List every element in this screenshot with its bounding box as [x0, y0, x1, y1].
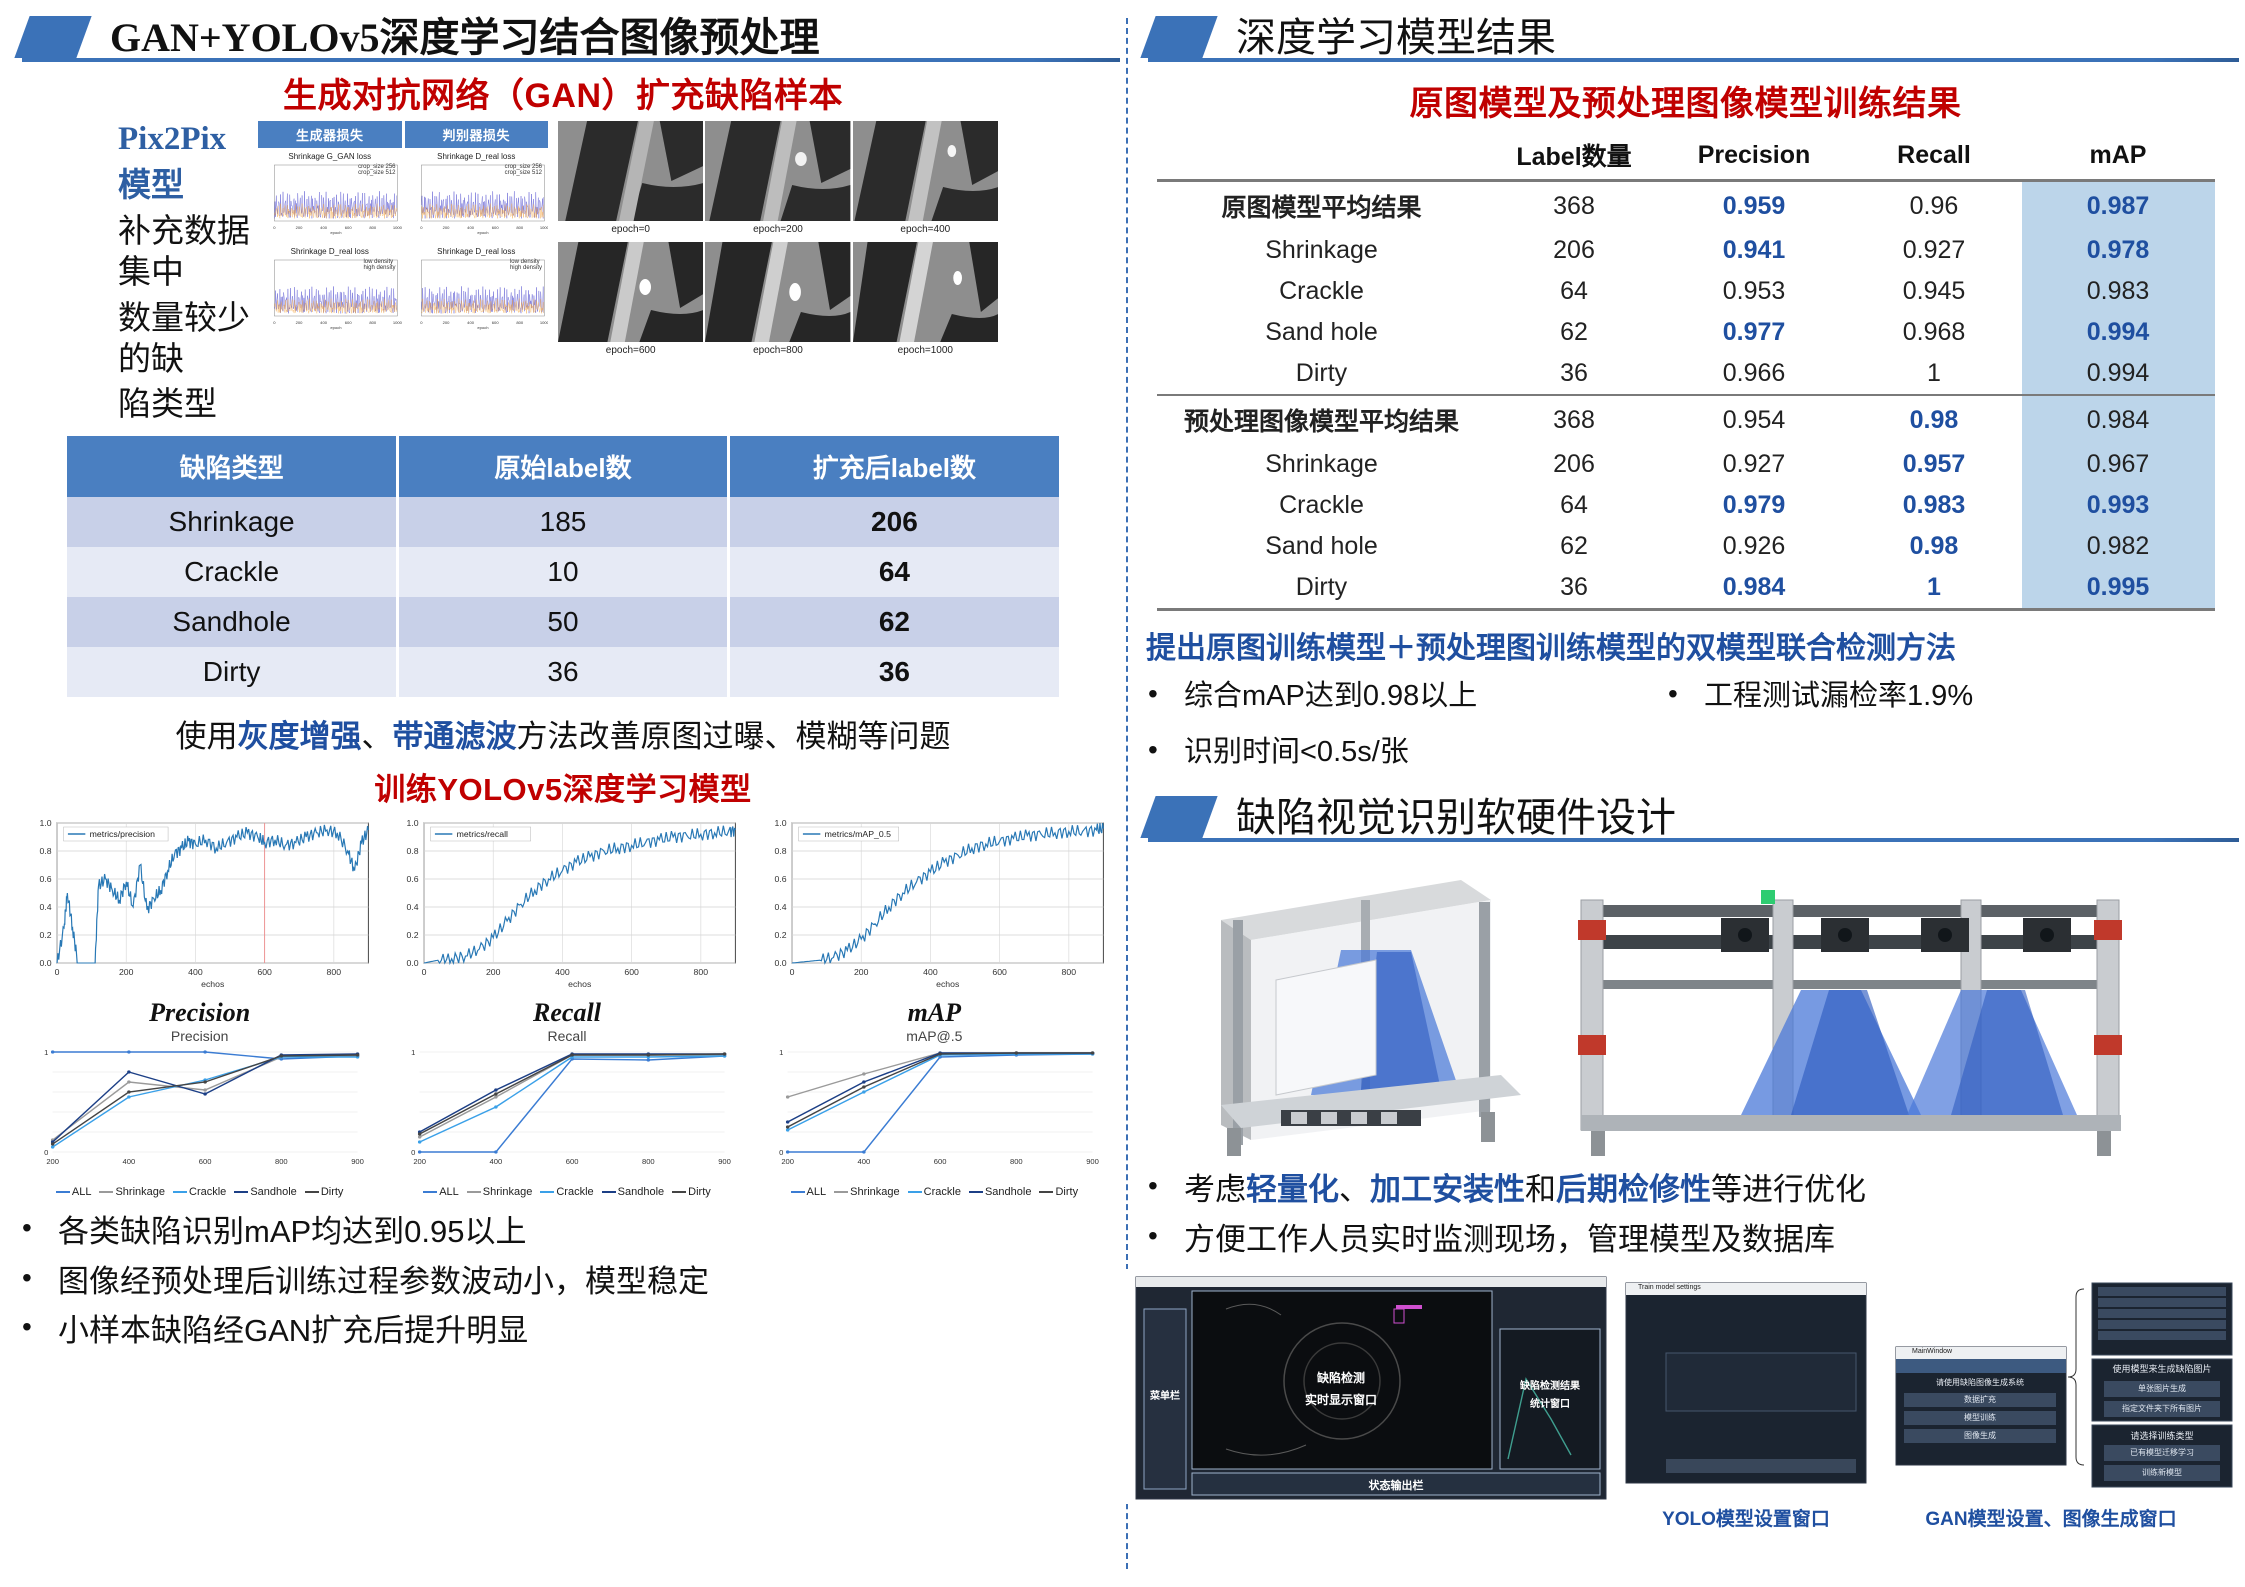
legend-item-all-2: ALL [791, 1186, 827, 1198]
detect-display-label-2: 实时显示窗口 [1246, 1391, 1436, 1408]
metric-box-0: 0.00.20.40.60.81.00200400600800metrics/p… [20, 815, 379, 1198]
results-header-row: Label数量 Precision Recall mAP [1157, 131, 2215, 181]
defect-table-header-row: 缺陷类型 原始label数 扩充后label数 [67, 436, 1059, 497]
results-row-label-7: Crackle [1157, 485, 1487, 526]
gan-button-2[interactable]: 图像生成 [1904, 1430, 2056, 1441]
legend-item-all-0: ALL [56, 1186, 92, 1198]
pix2pix-text-block: Pix2Pix模型 补充数据集中 数量较少的缺 陷类型 [0, 121, 250, 424]
svg-text:0.0: 0.0 [774, 959, 786, 969]
epoch-cell-1: epoch=200 [705, 121, 850, 240]
svg-text:600: 600 [491, 225, 499, 230]
svg-text:0: 0 [44, 1149, 48, 1158]
legend-item-dirty-0: Dirty [305, 1186, 344, 1198]
svg-text:200: 200 [296, 225, 304, 230]
svg-text:600: 600 [345, 225, 353, 230]
hw-b0-p4: 等进行优化 [1711, 1172, 1866, 1207]
results-count-2: 64 [1487, 271, 1662, 312]
results-precision-1: 0.941 [1662, 230, 1847, 271]
stats-window-label-2: 统计窗口 [1500, 1395, 1600, 1410]
recall-curve-chart: 0.00.20.40.60.81.00200400600800metrics/r… [387, 815, 746, 1000]
svg-text:0.4: 0.4 [407, 903, 419, 913]
svg-text:200: 200 [781, 1158, 794, 1167]
svg-text:800: 800 [327, 968, 342, 978]
svg-text:0: 0 [273, 320, 276, 325]
defect-orig-0: 185 [398, 497, 729, 547]
table-row: Crackle640.9530.9450.983 [1157, 271, 2215, 312]
caption-yolo: YOLO模型设置窗口 [1626, 1504, 1866, 1531]
table-row: Dirty360.98410.995 [1157, 567, 2215, 610]
results-precision-7: 0.979 [1662, 485, 1847, 526]
results-row-label-5: 预处理图像模型平均结果 [1157, 395, 1487, 444]
results-count-4: 36 [1487, 353, 1662, 395]
hw-b0-p2: 、 [1339, 1172, 1370, 1207]
yolo-window-title: Train model settings [1638, 1284, 1701, 1291]
svg-text:800: 800 [516, 320, 524, 325]
svg-text:800: 800 [369, 225, 377, 230]
legend-item-shrinkage-1: Shrinkage [467, 1186, 533, 1198]
results-precision-0: 0.959 [1662, 181, 1847, 231]
defect-type-1: Crackle [67, 547, 398, 597]
table-row: Sand hole620.9260.980.982 [1157, 526, 2215, 567]
pix2pix-line3: 陷类型 [118, 383, 250, 424]
svg-text:0: 0 [420, 225, 423, 230]
results-recall-5: 0.98 [1847, 395, 2022, 444]
results-precision-9: 0.984 [1662, 567, 1847, 610]
list-item: 综合mAP达到0.98以上 [1126, 678, 1646, 716]
results-recall-8: 0.98 [1847, 526, 2022, 567]
epoch-grid-top: epoch=0 epoch=200 [558, 121, 998, 240]
software-windows-graphic [1126, 1269, 2245, 1504]
defect-orig-1: 10 [398, 547, 729, 597]
results-recall-9: 1 [1847, 567, 2022, 610]
list-item: 方便工作人员实时监测现场，管理模型及数据库 [1126, 1220, 2245, 1260]
gan-chart-grid: Shrinkage G_GAN loss 02004006008001000ep… [258, 152, 548, 339]
right-section-title: 深度学习模型结果 [1236, 5, 1556, 63]
svg-text:200: 200 [414, 1158, 427, 1167]
results-map-1: 0.978 [2022, 230, 2215, 271]
svg-text:400: 400 [467, 320, 475, 325]
svg-text:0: 0 [55, 968, 60, 978]
list-item: 小样本缺陷经GAN扩充后提升明显 [0, 1311, 1126, 1351]
svg-text:0.2: 0.2 [774, 931, 786, 941]
panel-2-button-1[interactable]: 训练新模型 [2104, 1467, 2220, 1478]
svg-text:400: 400 [923, 968, 938, 978]
method-bullets-left: 综合mAP达到0.98以上 [1126, 669, 1646, 725]
hw-b0-hl3: 后期检修性 [1556, 1172, 1711, 1207]
results-map-5: 0.984 [2022, 395, 2215, 444]
header-parallelogram-icon [14, 16, 91, 58]
defect-th-aug: 扩充后label数 [728, 436, 1059, 497]
epoch-label-2: epoch=400 [853, 221, 998, 240]
preprocess-note-p2: 、 [362, 719, 393, 754]
model-results-table: Label数量 Precision Recall mAP 原图模型平均结果368… [1157, 131, 2215, 611]
results-row-label-3: Sand hole [1157, 312, 1487, 353]
metric-legend-0: ALL Shrinkage Crackle Sandhole Dirty [20, 1186, 379, 1198]
svg-text:800: 800 [1061, 968, 1076, 978]
svg-text:1: 1 [411, 1049, 415, 1058]
legend-item-sandhole-1: Sandhole [602, 1186, 665, 1198]
svg-text:0.4: 0.4 [774, 903, 786, 913]
results-count-3: 62 [1487, 312, 1662, 353]
epoch-label-0: epoch=0 [558, 221, 703, 240]
svg-text:900: 900 [1086, 1158, 1099, 1167]
table-row: Sand hole620.9770.9680.994 [1157, 312, 2215, 353]
svg-text:600: 600 [625, 968, 640, 978]
results-recall-1: 0.927 [1847, 230, 2022, 271]
stats-window-label: 缺陷检测结果 [1500, 1377, 1600, 1392]
svg-text:1.0: 1.0 [407, 819, 419, 829]
epoch-cell-0: epoch=0 [558, 121, 703, 240]
defect-type-3: Dirty [67, 647, 398, 697]
defect-type-0: Shrinkage [67, 497, 398, 547]
svg-text:400: 400 [490, 1158, 503, 1167]
software-captions: YOLO模型设置窗口 GAN模型设置、图像生成窗口 [1126, 1504, 2245, 1530]
epoch-grid-bottom: epoch=600 epoch=800 [558, 242, 998, 361]
metric-box-2: 0.00.20.40.60.81.00200400600800metrics/m… [755, 815, 1114, 1198]
gan-red-title: 生成对抗网络（GAN）扩充缺陷样本 [0, 68, 1126, 117]
map-curve-chart: 0.00.20.40.60.81.00200400600800metrics/m… [755, 815, 1114, 1000]
gan-chart-3: Shrinkage D_real loss 02004006008001000e… [405, 247, 549, 339]
metric-sub-0: Precision [20, 1028, 379, 1044]
epoch-label-3: epoch=600 [558, 342, 703, 361]
results-map-2: 0.983 [2022, 271, 2215, 312]
gan-chart-1-title: Shrinkage D_real loss [405, 152, 549, 161]
panel-1-button-0[interactable]: 单张图片生成 [2104, 1383, 2220, 1394]
svg-text:900: 900 [719, 1158, 732, 1167]
header-parallelogram-icon [1140, 16, 1217, 58]
hardware-section-header: 缺陷视觉识别软硬件设计 [1126, 780, 2245, 852]
gan-chart-0: Shrinkage G_GAN loss 02004006008001000ep… [258, 152, 402, 244]
svg-text:1000: 1000 [539, 225, 548, 230]
svg-text:800: 800 [694, 968, 709, 978]
train-title: 训练YOLOv5深度学习模型 [0, 764, 1126, 809]
svg-text:0.2: 0.2 [407, 931, 419, 941]
results-recall-7: 0.983 [1847, 485, 2022, 526]
svg-text:400: 400 [320, 320, 328, 325]
svg-text:metrics/precision: metrics/precision [90, 830, 156, 840]
results-row-label-1: Shrinkage [1157, 230, 1487, 271]
svg-text:800: 800 [516, 225, 524, 230]
defect-aug-3: 36 [728, 647, 1059, 697]
svg-text:600: 600 [199, 1158, 212, 1167]
legend-item-shrinkage-0: Shrinkage [99, 1186, 165, 1198]
svg-text:0.8: 0.8 [774, 847, 786, 857]
svg-text:600: 600 [257, 968, 272, 978]
svg-text:200: 200 [486, 968, 501, 978]
right-column: 深度学习模型结果 原图模型及预处理图像模型训练结果 Label数量 Precis… [1126, 0, 2245, 1587]
menu-bar-label: 菜单栏 [1148, 1387, 1182, 1402]
defect-aug-0: 206 [728, 497, 1059, 547]
results-count-7: 64 [1487, 485, 1662, 526]
legend-item-sandhole-0: Sandhole [234, 1186, 297, 1198]
svg-text:400: 400 [857, 1158, 870, 1167]
metric-legend-2: ALL Shrinkage Crackle Sandhole Dirty [755, 1186, 1114, 1198]
svg-text:400: 400 [555, 968, 570, 978]
svg-text:600: 600 [566, 1158, 579, 1167]
left-section-header: GAN+YOLOv5深度学习结合图像预处理 [0, 0, 1126, 72]
table-row: Shrinkage2060.9270.9570.967 [1157, 444, 2215, 485]
svg-text:0: 0 [779, 1149, 783, 1158]
gan-chart-0-title: Shrinkage G_GAN loss [258, 152, 402, 161]
left-conclusions-list: 各类缺陷识别mAP均达到0.95以上 图像经预处理后训练过程参数波动小，模型稳定… [0, 1212, 1126, 1351]
table-row: Crackle640.9790.9830.993 [1157, 485, 2215, 526]
gan-chart-2-title: Shrinkage D_real loss [258, 247, 402, 256]
gan-chart-headers: 生成器损失 判别器损失 [258, 121, 548, 148]
method-title: 提出原图训练模型＋预处理图训练模型的双模型联合检测方法 [1126, 623, 2245, 667]
results-precision-5: 0.954 [1662, 395, 1847, 444]
hardware-section-title: 缺陷视觉识别软硬件设计 [1236, 785, 1676, 843]
metric-title-1: Recall [387, 998, 746, 1028]
svg-text:0: 0 [422, 968, 427, 978]
epoch-image-5 [853, 242, 998, 342]
svg-text:200: 200 [46, 1158, 59, 1167]
list-item: 识别时间<0.5s/张 [1126, 734, 2245, 772]
svg-text:0: 0 [789, 968, 794, 978]
defect-orig-3: 36 [398, 647, 729, 697]
preprocess-note-hl2: 带通滤波 [393, 719, 517, 754]
preprocess-note-p3: 方法改善原图过曝、模糊等问题 [517, 719, 951, 754]
results-count-8: 62 [1487, 526, 1662, 567]
legend-item-crackle-2: Crackle [908, 1186, 961, 1198]
left-column: GAN+YOLOv5深度学习结合图像预处理 生成对抗网络（GAN）扩充缺陷样本 … [0, 0, 1126, 1587]
epoch-image-3 [558, 242, 703, 342]
detect-display-label: 缺陷检测 [1246, 1369, 1436, 1386]
list-item: 图像经预处理后训练过程参数波动小，模型稳定 [0, 1262, 1126, 1302]
epoch-image-1 [705, 121, 850, 221]
svg-text:200: 200 [296, 320, 304, 325]
results-recall-2: 0.945 [1847, 271, 2022, 312]
legend-item-dirty-2: Dirty [1039, 1186, 1078, 1198]
results-row-label-2: Crackle [1157, 271, 1487, 312]
gan-chart-3-title: Shrinkage D_real loss [405, 247, 549, 256]
epoch-cell-2: epoch=400 [853, 121, 998, 240]
header-rule [1148, 58, 2239, 62]
defect-aug-2: 62 [728, 597, 1059, 647]
map-class-chart: 01200400600800900 [755, 1044, 1114, 1184]
legend-item-shrinkage-2: Shrinkage [834, 1186, 900, 1198]
svg-text:1000: 1000 [539, 320, 548, 325]
svg-text:800: 800 [642, 1158, 655, 1167]
results-precision-2: 0.953 [1662, 271, 1847, 312]
svg-text:1000: 1000 [393, 225, 402, 230]
results-map-0: 0.987 [2022, 181, 2215, 231]
legend-item-dirty-1: Dirty [672, 1186, 711, 1198]
results-count-0: 368 [1487, 181, 1662, 231]
svg-text:200: 200 [442, 320, 450, 325]
table-row: 原图模型平均结果3680.9590.960.987 [1157, 181, 2215, 231]
list-item: 考虑轻量化、加工安装性和后期检修性等进行优化 [1126, 1170, 2245, 1210]
results-th-recall: Recall [1847, 131, 2022, 181]
results-precision-8: 0.926 [1662, 526, 1847, 567]
metric-sub-1: Recall [387, 1028, 746, 1044]
results-count-5: 368 [1487, 395, 1662, 444]
gan-header-discriminator: 判别器损失 [405, 121, 549, 148]
svg-text:400: 400 [467, 225, 475, 230]
svg-text:0.8: 0.8 [39, 847, 51, 857]
poster-root: GAN+YOLOv5深度学习结合图像预处理 生成对抗网络（GAN）扩充缺陷样本 … [0, 0, 2245, 1587]
results-row-label-8: Sand hole [1157, 526, 1487, 567]
metric-title-0: Precision [20, 998, 379, 1028]
results-precision-3: 0.977 [1662, 312, 1847, 353]
epoch-label-1: epoch=200 [705, 221, 850, 240]
gan-header-generator: 生成器损失 [258, 121, 402, 148]
defect-th-type: 缺陷类型 [67, 436, 398, 497]
panel-1-button-1[interactable]: 指定文件夹下所有图片 [2104, 1403, 2220, 1414]
defect-aug-1: 64 [728, 547, 1059, 597]
pix2pix-title: Pix2Pix模型 [118, 121, 250, 206]
svg-text:1: 1 [779, 1049, 783, 1058]
svg-text:0.8: 0.8 [407, 847, 419, 857]
svg-text:echos: echos [568, 980, 591, 990]
results-red-title: 原图模型及预处理图像模型训练结果 [1126, 76, 2245, 125]
svg-text:0.2: 0.2 [39, 931, 51, 941]
svg-text:800: 800 [1010, 1158, 1023, 1167]
svg-text:metrics/recall: metrics/recall [457, 830, 508, 840]
panel-2-button-0[interactable]: 已有模型迁移学习 [2104, 1447, 2220, 1458]
preprocess-note: 使用灰度增强、带通滤波方法改善原图过曝、模糊等问题 [0, 711, 1126, 756]
results-th-label-count: Label数量 [1487, 131, 1662, 181]
metric-box-1: 0.00.20.40.60.81.00200400600800metrics/r… [387, 815, 746, 1198]
hw-b0-p3: 和 [1525, 1172, 1556, 1207]
gan-chart-2-legend: low density high density [363, 259, 395, 271]
header-rule [22, 58, 1120, 62]
hardware-bullets: 考虑轻量化、加工安装性和后期检修性等进行优化 方便工作人员实时监测现场，管理模型… [1126, 1170, 2245, 1260]
epoch-cell-5: epoch=1000 [853, 242, 998, 361]
svg-text:echos: echos [936, 980, 959, 990]
epoch-cell-4: epoch=800 [705, 242, 850, 361]
table-row: Dirty 36 36 [67, 647, 1059, 697]
svg-text:0.6: 0.6 [407, 875, 419, 885]
epoch-label-5: epoch=1000 [853, 342, 998, 361]
gan-chart-1: Shrinkage D_real loss 02004006008001000e… [405, 152, 549, 244]
inspection-rig-photo [1161, 860, 2211, 1160]
table-row: Shrinkage 185 206 [67, 497, 1059, 547]
metric-sub-2: mAP@.5 [755, 1028, 1114, 1044]
legend-item-crackle-1: Crackle [540, 1186, 593, 1198]
epoch-cell-3: epoch=600 [558, 242, 703, 361]
list-item: 各类缺陷识别mAP均达到0.95以上 [0, 1212, 1126, 1252]
svg-text:800: 800 [369, 320, 377, 325]
precision-curve-chart: 0.00.20.40.60.81.00200400600800metrics/p… [20, 815, 379, 1000]
header-rule [1148, 838, 2239, 842]
gan-chart-1-legend: crop_size 256 crop_size 512 [505, 164, 542, 176]
results-map-8: 0.982 [2022, 526, 2215, 567]
svg-text:0.6: 0.6 [774, 875, 786, 885]
panel-title-1: 使用模型来生成缺陷图片 [2092, 1362, 2232, 1375]
results-map-3: 0.994 [2022, 312, 2215, 353]
defect-orig-2: 50 [398, 597, 729, 647]
gan-button-1[interactable]: 模型训练 [1904, 1412, 2056, 1423]
gan-chart-3-legend-1: high density [510, 265, 542, 271]
method-bullets-row2: 识别时间<0.5s/张 [1126, 734, 2245, 772]
pix2pix-line1: 补充数据集中 [118, 210, 250, 293]
pix2pix-line2: 数量较少的缺 [118, 297, 250, 380]
results-precision-6: 0.927 [1662, 444, 1847, 485]
svg-text:400: 400 [320, 225, 328, 230]
svg-text:epoch: epoch [477, 325, 488, 330]
gan-button-0[interactable]: 数据扩充 [1904, 1394, 2056, 1405]
svg-text:400: 400 [188, 968, 203, 978]
svg-text:echos: echos [201, 980, 224, 990]
results-recall-3: 0.968 [1847, 312, 2022, 353]
svg-text:0: 0 [411, 1149, 415, 1158]
preprocess-note-hl1: 灰度增强 [238, 719, 362, 754]
svg-text:400: 400 [123, 1158, 136, 1167]
results-count-1: 206 [1487, 230, 1662, 271]
epoch-image-4 [705, 242, 850, 342]
svg-text:0.0: 0.0 [39, 959, 51, 969]
svg-text:0.0: 0.0 [407, 959, 419, 969]
svg-text:600: 600 [992, 968, 1007, 978]
svg-text:epoch: epoch [477, 230, 488, 235]
svg-text:metrics/mAP_0.5: metrics/mAP_0.5 [824, 830, 891, 840]
results-row-label-9: Dirty [1157, 567, 1487, 610]
results-count-6: 206 [1487, 444, 1662, 485]
svg-text:0.4: 0.4 [39, 903, 51, 913]
header-parallelogram-icon [1140, 796, 1217, 838]
table-row: Shrinkage2060.9410.9270.978 [1157, 230, 2215, 271]
results-row-label-4: Dirty [1157, 353, 1487, 395]
defect-count-table: 缺陷类型 原始label数 扩充后label数 Shrinkage 185 20… [67, 436, 1059, 697]
gan-loss-charts: 生成器损失 判别器损失 Shrinkage G_GAN loss 0200400… [258, 121, 548, 339]
panel-title-2: 请选择训练类型 [2092, 1429, 2232, 1442]
defect-type-2: Sandhole [67, 597, 398, 647]
table-row: Crackle 10 64 [67, 547, 1059, 597]
results-recall-0: 0.96 [1847, 181, 2022, 231]
gan-chart-3-legend: low density high density [510, 259, 542, 271]
svg-text:0: 0 [273, 225, 276, 230]
svg-text:0.6: 0.6 [39, 875, 51, 885]
results-row-label-6: Shrinkage [1157, 444, 1487, 485]
gan-chart-1-legend-1: crop_size 512 [505, 170, 542, 176]
results-row-label-0: 原图模型平均结果 [1157, 181, 1487, 231]
recall-class-chart: 01200400600800900 [387, 1044, 746, 1184]
epoch-image-2 [853, 121, 998, 221]
svg-text:600: 600 [933, 1158, 946, 1167]
results-recall-6: 0.957 [1847, 444, 2022, 485]
pix2pix-row: Pix2Pix模型 补充数据集中 数量较少的缺 陷类型 生成器损失 判别器损失 … [0, 121, 1126, 424]
right-section-header: 深度学习模型结果 [1126, 0, 2245, 72]
hw-b0-hl2: 加工安装性 [1370, 1172, 1525, 1207]
results-map-9: 0.995 [2022, 567, 2215, 610]
defect-th-orig: 原始label数 [398, 436, 729, 497]
epoch-image-0 [558, 121, 703, 221]
results-th-precision: Precision [1662, 131, 1847, 181]
caption-gan: GAN模型设置、图像生成窗口 [1886, 1504, 2216, 1531]
legend-item-sandhole-2: Sandhole [969, 1186, 1032, 1198]
svg-text:1.0: 1.0 [774, 819, 786, 829]
table-row: 预处理图像模型平均结果3680.9540.980.984 [1157, 395, 2215, 444]
method-bullets-row1: 综合mAP达到0.98以上 工程测试漏检率1.9% [1126, 669, 2245, 725]
status-bar-label: 状态输出栏 [1192, 1477, 1600, 1493]
results-map-7: 0.993 [2022, 485, 2215, 526]
legend-item-crackle-0: Crackle [173, 1186, 226, 1198]
svg-text:600: 600 [491, 320, 499, 325]
table-row: Sandhole 50 62 [67, 597, 1059, 647]
svg-text:200: 200 [442, 225, 450, 230]
svg-text:900: 900 [351, 1158, 364, 1167]
results-th-map: mAP [2022, 131, 2215, 181]
legend-item-all-1: ALL [423, 1186, 459, 1198]
metric-title-2: mAP [755, 998, 1114, 1028]
hw-b0-p1: 考虑 [1184, 1172, 1246, 1207]
svg-text:epoch: epoch [330, 325, 341, 330]
table-row: Dirty360.96610.994 [1157, 353, 2215, 395]
preprocess-note-p1: 使用 [176, 719, 238, 754]
results-map-6: 0.967 [2022, 444, 2215, 485]
results-count-9: 36 [1487, 567, 1662, 610]
hw-b0-hl1: 轻量化 [1246, 1172, 1339, 1207]
